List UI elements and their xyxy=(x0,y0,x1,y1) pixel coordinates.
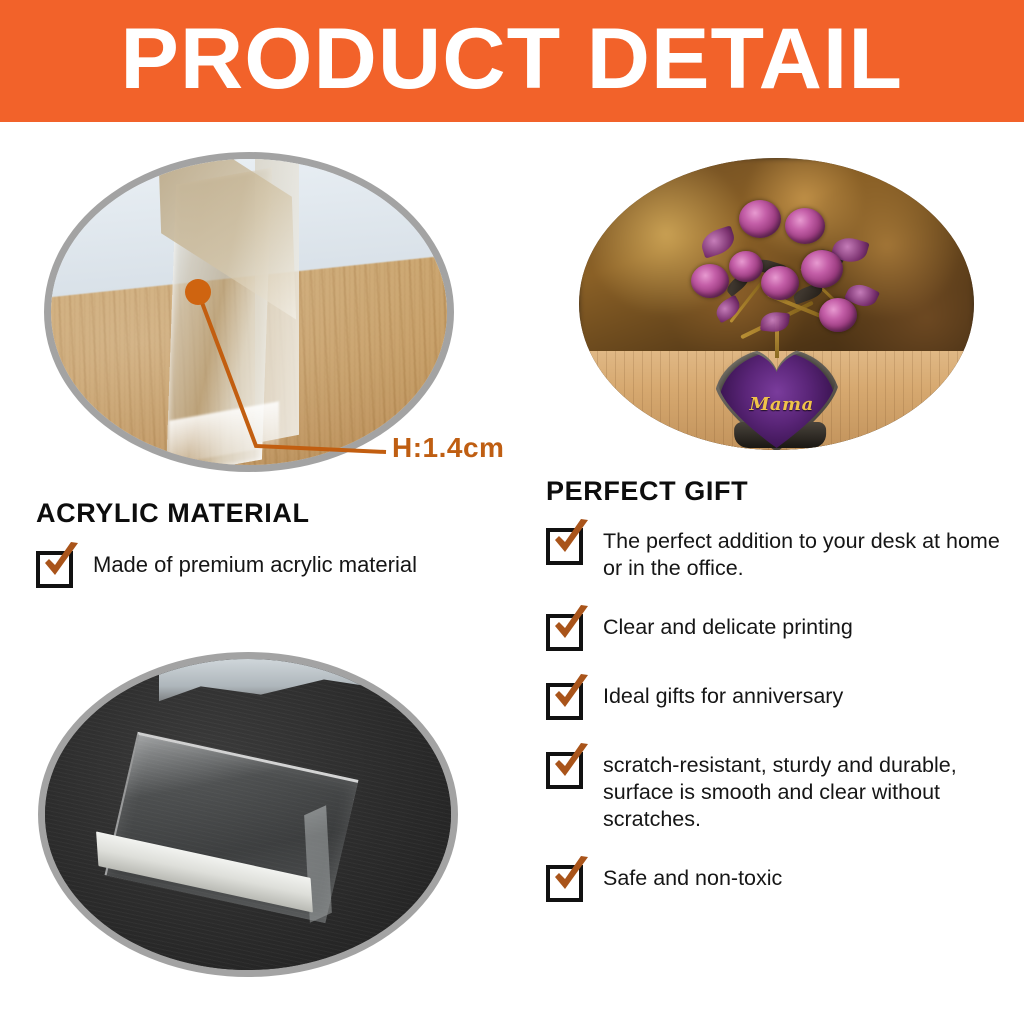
checkmark-icon xyxy=(546,861,587,902)
list-item-label: The perfect addition to your desk at hom… xyxy=(603,522,1006,582)
height-callout-label: H:1.4cm xyxy=(392,432,504,464)
section-heading-acrylic-material: ACRYLIC MATERIAL xyxy=(36,498,310,529)
checkmark-icon xyxy=(546,524,587,565)
photo-rose xyxy=(819,298,857,332)
list-item: Clear and delicate printing xyxy=(546,608,1006,651)
checkmark-icon xyxy=(546,679,587,720)
photo-rose xyxy=(761,266,799,300)
checkmark-icon xyxy=(546,610,587,651)
acrylic-edge-photo xyxy=(44,152,454,472)
list-item: Made of premium acrylic material xyxy=(36,545,516,588)
photo-rose xyxy=(729,251,763,282)
list-item-label: Made of premium acrylic material xyxy=(93,545,417,578)
ornament-photo: Mama xyxy=(579,158,974,450)
photo-rose xyxy=(785,208,825,244)
header-banner: PRODUCT DETAIL xyxy=(0,0,1024,122)
acrylic-block-photo xyxy=(38,652,458,977)
section-heading-perfect-gift: PERFECT GIFT xyxy=(546,476,748,507)
list-item: Ideal gifts for anniversary xyxy=(546,677,1006,720)
list-item: Safe and non-toxic xyxy=(546,859,1006,902)
photo-rose xyxy=(739,200,781,238)
list-item: scratch-resistant, sturdy and durable, s… xyxy=(546,746,1006,833)
list-item: The perfect addition to your desk at hom… xyxy=(546,522,1006,582)
list-item-label: Ideal gifts for anniversary xyxy=(603,677,843,710)
photo-amethyst-heart: Mama xyxy=(718,342,846,442)
list-item-label: Clear and delicate printing xyxy=(603,608,853,641)
page-title: PRODUCT DETAIL xyxy=(121,16,904,106)
checkmark-icon xyxy=(546,748,587,789)
feature-list-acrylic-material: Made of premium acrylic material xyxy=(36,545,516,614)
photo-rose xyxy=(801,250,843,288)
feature-list-perfect-gift: The perfect addition to your desk at hom… xyxy=(546,522,1006,928)
list-item-label: scratch-resistant, sturdy and durable, s… xyxy=(603,746,1006,833)
photo-rose xyxy=(691,264,729,298)
engraved-name: Mama xyxy=(718,394,846,415)
checkmark-icon xyxy=(36,547,77,588)
list-item-label: Safe and non-toxic xyxy=(603,859,782,892)
